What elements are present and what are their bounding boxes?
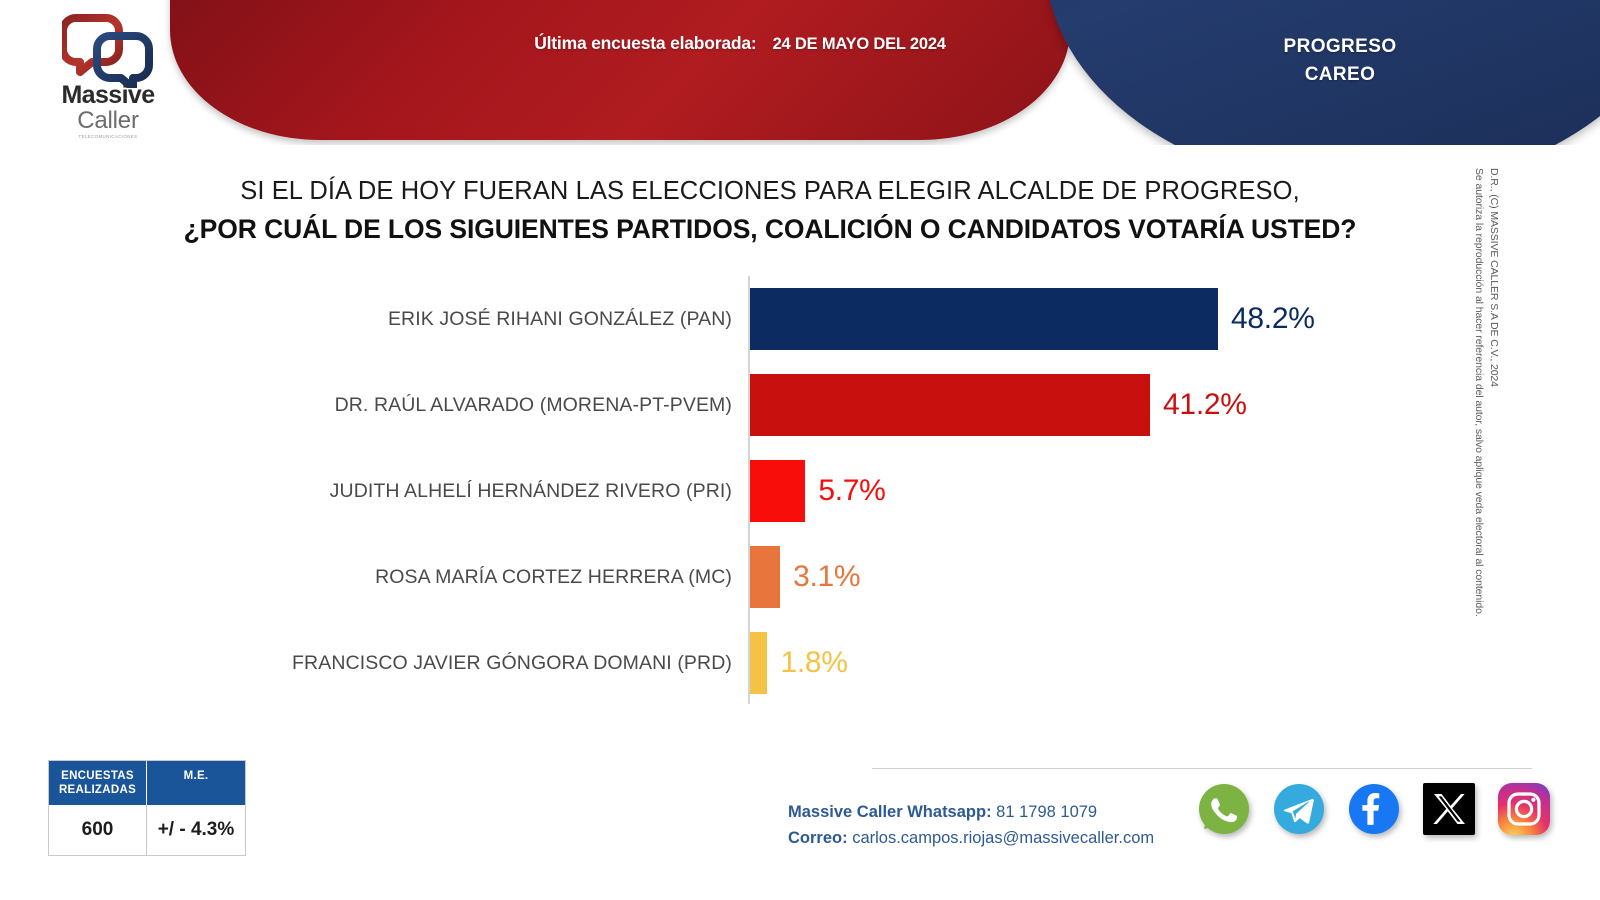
candidate-label: FRANCISCO JAVIER GÓNGORA DOMANI (PRD) (120, 620, 732, 706)
legal-reproduction-notice: Se autoriza la reproducción al hacer ref… (1471, 168, 1486, 768)
whatsapp-number[interactable]: 81 1798 1079 (996, 803, 1097, 821)
bar-track: 48.2% (750, 276, 1315, 362)
bar-value-label: 3.1% (793, 560, 860, 594)
bar-pri (750, 460, 805, 522)
facebook-icon[interactable] (1348, 783, 1400, 835)
whatsapp-contact[interactable]: Massive Caller Whatsapp: 81 1798 1079 (788, 799, 1154, 825)
chart-row: ROSA MARÍA CORTEZ HERRERA (MC)3.1% (0, 534, 1480, 620)
bar-pan (750, 288, 1218, 350)
chart-row: ERIK JOSÉ RIHANI GONZÁLEZ (PAN)48.2% (0, 276, 1480, 362)
footer-divider (872, 768, 1532, 769)
column-header-surveys-line1: ENCUESTAS (55, 769, 140, 783)
chart-row: DR. RAÚL ALVARADO (MORENA-PT-PVEM)41.2% (0, 362, 1480, 448)
cell-surveys-count: 600 (49, 805, 147, 855)
column-header-surveys: ENCUESTAS REALIZADAS (49, 761, 147, 805)
bar-value-label: 41.2% (1163, 388, 1247, 422)
bar-track: 1.8% (750, 620, 848, 706)
brand-logo: Massive Caller TELECOMUNICACIONES (48, 14, 168, 132)
instagram-icon[interactable] (1498, 783, 1550, 835)
candidate-label: DR. RAÚL ALVARADO (MORENA-PT-PVEM) (120, 362, 732, 448)
table-row: 600 +/ - 4.3% (49, 805, 245, 855)
results-bar-chart: ERIK JOSÉ RIHANI GONZÁLEZ (PAN)48.2%DR. … (0, 276, 1600, 706)
survey-date: Última encuesta elaborada:24 DE MAYO DEL… (430, 33, 1050, 54)
brand-logo-text: Massive Caller TELECOMUNICACIONES (48, 82, 168, 139)
whatsapp-icon[interactable] (1198, 783, 1250, 835)
bar-value-label: 48.2% (1231, 302, 1315, 336)
logo-line-massive: Massive (48, 82, 168, 108)
bar-track: 3.1% (750, 534, 860, 620)
bar-morena-pt-pvem (750, 374, 1150, 436)
email-label: Correo: (788, 829, 848, 847)
bar-value-label: 5.7% (818, 474, 885, 508)
bar-track: 41.2% (750, 362, 1247, 448)
candidate-label: ROSA MARÍA CORTEZ HERRERA (MC) (120, 534, 732, 620)
survey-stats-table: ENCUESTAS REALIZADAS M.E. 600 +/ - 4.3% (48, 760, 246, 856)
column-header-margin-error: M.E. (147, 761, 245, 805)
whatsapp-label: Massive Caller Whatsapp: (788, 803, 992, 821)
legal-copyright: D.R., (C) MASSIVE CALLER S.A DE C.V., 20… (1486, 168, 1501, 768)
page-title-line1: SI EL DÍA DE HOY FUERAN LAS ELECCIONES P… (60, 172, 1480, 210)
email-address[interactable]: carlos.campos.riojas@massivecaller.com (852, 829, 1154, 847)
bar-prd (750, 632, 767, 694)
column-header-surveys-line2: REALIZADAS (55, 783, 140, 797)
telegram-icon[interactable] (1273, 783, 1325, 835)
contact-info: Massive Caller Whatsapp: 81 1798 1079 Co… (788, 799, 1154, 851)
cell-margin-error: +/ - 4.3% (147, 805, 245, 855)
email-contact[interactable]: Correo: carlos.campos.riojas@massivecall… (788, 825, 1154, 851)
chart-row: FRANCISCO JAVIER GÓNGORA DOMANI (PRD)1.8… (0, 620, 1480, 706)
candidate-label: ERIK JOSÉ RIHANI GONZÁLEZ (PAN) (120, 276, 732, 362)
page-title-line2: ¿POR CUÁL DE LOS SIGUIENTES PARTIDOS, CO… (60, 210, 1480, 249)
x-icon[interactable] (1423, 783, 1475, 835)
legal-notice: D.R., (C) MASSIVE CALLER S.A DE C.V., 20… (1466, 168, 1506, 768)
poll-infographic: Última encuesta elaborada:24 DE MAYO DEL… (0, 0, 1600, 900)
logo-line-caller: Caller (48, 108, 168, 133)
bar-track: 5.7% (750, 448, 886, 534)
page-title: SI EL DÍA DE HOY FUERAN LAS ELECCIONES P… (60, 172, 1480, 249)
bar-value-label: 1.8% (780, 646, 847, 680)
region-block: PROGRESO CAREO (1165, 33, 1515, 89)
massive-caller-speech-bubbles-logo-icon (62, 14, 154, 88)
header-banner: Última encuesta elaborada:24 DE MAYO DEL… (0, 0, 1600, 145)
chart-row: JUDITH ALHELÍ HERNÁNDEZ RIVERO (PRI)5.7% (0, 448, 1480, 534)
red-banner-shape (170, 0, 1070, 140)
social-links (1198, 783, 1550, 835)
survey-date-value: 24 DE MAYO DEL 2024 (773, 35, 946, 53)
survey-date-label: Última encuesta elaborada: (534, 33, 756, 53)
logo-tagline: TELECOMUNICACIONES (48, 134, 168, 139)
candidate-label: JUDITH ALHELÍ HERNÁNDEZ RIVERO (PRI) (120, 448, 732, 534)
bar-mc (750, 546, 780, 608)
table-header-row: ENCUESTAS REALIZADAS M.E. (49, 761, 245, 805)
region-subtitle: CAREO (1165, 61, 1515, 89)
region-name: PROGRESO (1165, 33, 1515, 61)
